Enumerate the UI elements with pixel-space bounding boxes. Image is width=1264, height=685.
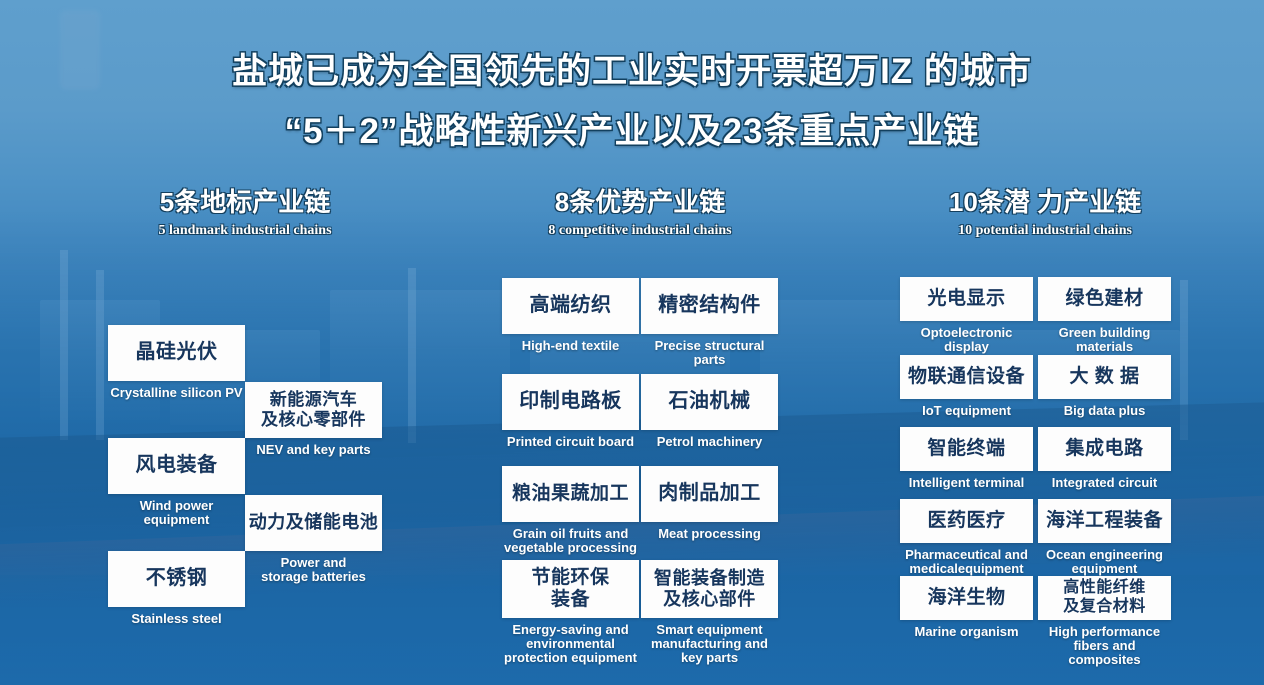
- chain-card-en: Energy-saving and environmental protecti…: [502, 623, 639, 664]
- slide-canvas: 盐城已成为全国领先的工业实时开票超万IZ 的城市 “5＋2”战略性新兴产业以及2…: [0, 0, 1264, 685]
- chain-card[interactable]: 粮油果蔬加工 Grain oil fruits and vegetable pr…: [502, 466, 639, 555]
- chain-card-cn: 高性能纤维 及复合材料: [1063, 579, 1146, 617]
- chain-card[interactable]: 智能装备制造 及核心部件 Smart equipment manufacturi…: [641, 560, 778, 664]
- chain-card-cn: 海洋工程装备: [1046, 510, 1163, 532]
- chain-card-en: Big data plus: [1038, 404, 1171, 418]
- chain-card-cn: 精密结构件: [658, 294, 761, 318]
- chain-card-en: Grain oil fruits and vegetable processin…: [502, 527, 639, 555]
- chain-card[interactable]: 印制电路板 Printed circuit board: [502, 374, 639, 449]
- chain-card-en: Integrated circuit: [1038, 476, 1171, 490]
- page-title-line-2: “5＋2”战略性新兴产业以及23条重点产业链: [0, 106, 1264, 158]
- chain-card-en: Meat processing: [641, 527, 778, 541]
- chain-card-cn: 新能源汽车 及核心零部件: [261, 390, 366, 430]
- chain-card[interactable]: 海洋工程装备 Ocean engineering equipment: [1038, 499, 1171, 576]
- slide-title-block: 盐城已成为全国领先的工业实时开票超万IZ 的城市 “5＋2”战略性新兴产业以及2…: [0, 46, 1264, 158]
- column-heading-competitive: 8条优势产业链 8 competitive industrial chains: [475, 186, 805, 241]
- column-heading-en: 10 potential industrial chains: [875, 221, 1215, 241]
- chain-card[interactable]: 绿色建材 Green building materials: [1038, 277, 1171, 354]
- chain-card-cn: 绿色建材: [1065, 288, 1143, 310]
- chain-card-en: High performance fibers and composites: [1038, 625, 1171, 666]
- column-heading-en: 8 competitive industrial chains: [475, 221, 805, 241]
- chain-card-en: Ocean engineering equipment: [1038, 548, 1171, 576]
- chain-card-en: Stainless steel: [108, 612, 245, 626]
- chain-card-cn: 动力及储能电池: [249, 512, 379, 533]
- page-title-line-1: 盐城已成为全国领先的工业实时开票超万IZ 的城市: [0, 46, 1264, 98]
- chain-card-cn: 风电装备: [136, 454, 218, 478]
- chain-card-cn: 智能装备制造 及核心部件: [654, 568, 765, 610]
- chain-card[interactable]: 动力及储能电池 Power and storage batteries: [245, 495, 382, 584]
- chain-card[interactable]: 精密结构件 Precise structural parts: [641, 278, 778, 367]
- column-heading-potential: 10条潜 力产业链 10 potential industrial chains: [875, 186, 1215, 241]
- chain-card-en: Smart equipment manufacturing and key pa…: [641, 623, 778, 664]
- chain-card[interactable]: 医药医疗 Pharmaceutical and medicalequipment: [900, 499, 1033, 576]
- chain-card-en: Petrol machinery: [641, 435, 778, 449]
- chain-card[interactable]: 新能源汽车 及核心零部件 NEV and key parts: [245, 382, 382, 457]
- chain-card[interactable]: 石油机械 Petrol machinery: [641, 374, 778, 449]
- chain-card-cn: 节能环保 装备: [531, 567, 609, 612]
- chain-card[interactable]: 海洋生物 Marine organism: [900, 576, 1033, 639]
- chain-card-en: Power and storage batteries: [245, 556, 382, 584]
- chain-card[interactable]: 晶硅光伏 Crystalline silicon PV: [108, 325, 245, 400]
- chain-card-en: Wind power equipment: [108, 499, 245, 527]
- chain-card-en: Pharmaceutical and medicalequipment: [900, 548, 1033, 576]
- chain-card-cn: 光电显示: [927, 288, 1005, 310]
- chain-card[interactable]: 风电装备 Wind power equipment: [108, 438, 245, 527]
- chain-card-en: Precise structural parts: [641, 339, 778, 367]
- chain-card[interactable]: 物联通信设备 IoT equipment: [900, 355, 1033, 418]
- chain-card[interactable]: 大 数 据 Big data plus: [1038, 355, 1171, 418]
- chain-card-cn: 大 数 据: [1069, 366, 1139, 388]
- column-heading-cn: 5条地标产业链: [80, 186, 410, 218]
- chain-card[interactable]: 高端纺织 High-end textile: [502, 278, 639, 353]
- chain-card-en: Marine organism: [900, 625, 1033, 639]
- chain-card[interactable]: 光电显示 Optoelectronic display: [900, 277, 1033, 354]
- column-heading-cn: 10条潜 力产业链: [875, 186, 1215, 218]
- chain-card-cn: 肉制品加工: [658, 482, 761, 506]
- chain-card[interactable]: 高性能纤维 及复合材料 High performance fibers and …: [1038, 576, 1171, 666]
- column-heading-cn: 8条优势产业链: [475, 186, 805, 218]
- chain-card[interactable]: 肉制品加工 Meat processing: [641, 466, 778, 541]
- chain-card-en: Printed circuit board: [502, 435, 639, 449]
- chain-card[interactable]: 集成电路 Integrated circuit: [1038, 427, 1171, 490]
- chain-card-en: Crystalline silicon PV: [108, 386, 245, 400]
- chain-card-en: High-end textile: [502, 339, 639, 353]
- chain-card-cn: 晶硅光伏: [136, 341, 218, 365]
- chain-card-cn: 石油机械: [669, 390, 751, 414]
- chain-card-cn: 粮油果蔬加工: [512, 483, 629, 505]
- chain-card-en: NEV and key parts: [245, 443, 382, 457]
- chain-card-en: Green building materials: [1038, 326, 1171, 354]
- chain-card-en: IoT equipment: [900, 404, 1033, 418]
- chain-card[interactable]: 节能环保 装备 Energy-saving and environmental …: [502, 560, 639, 664]
- chain-card[interactable]: 智能终端 Intelligent terminal: [900, 427, 1033, 490]
- chain-card-cn: 不锈钢: [146, 567, 208, 591]
- chain-card-cn: 医药医疗: [927, 510, 1005, 532]
- column-heading-landmark: 5条地标产业链 5 landmark industrial chains: [80, 186, 410, 241]
- chain-card-en: Optoelectronic display: [900, 326, 1033, 354]
- chain-card-cn: 印制电路板: [519, 390, 622, 414]
- chain-card[interactable]: 不锈钢 Stainless steel: [108, 551, 245, 626]
- chain-card-cn: 海洋生物: [927, 587, 1005, 609]
- chain-card-cn: 集成电路: [1065, 438, 1143, 460]
- chain-card-cn: 智能终端: [927, 438, 1005, 460]
- chain-card-cn: 物联通信设备: [908, 366, 1025, 388]
- chain-card-en: Intelligent terminal: [900, 476, 1033, 490]
- chain-card-cn: 高端纺织: [530, 294, 612, 318]
- column-heading-en: 5 landmark industrial chains: [80, 221, 410, 241]
